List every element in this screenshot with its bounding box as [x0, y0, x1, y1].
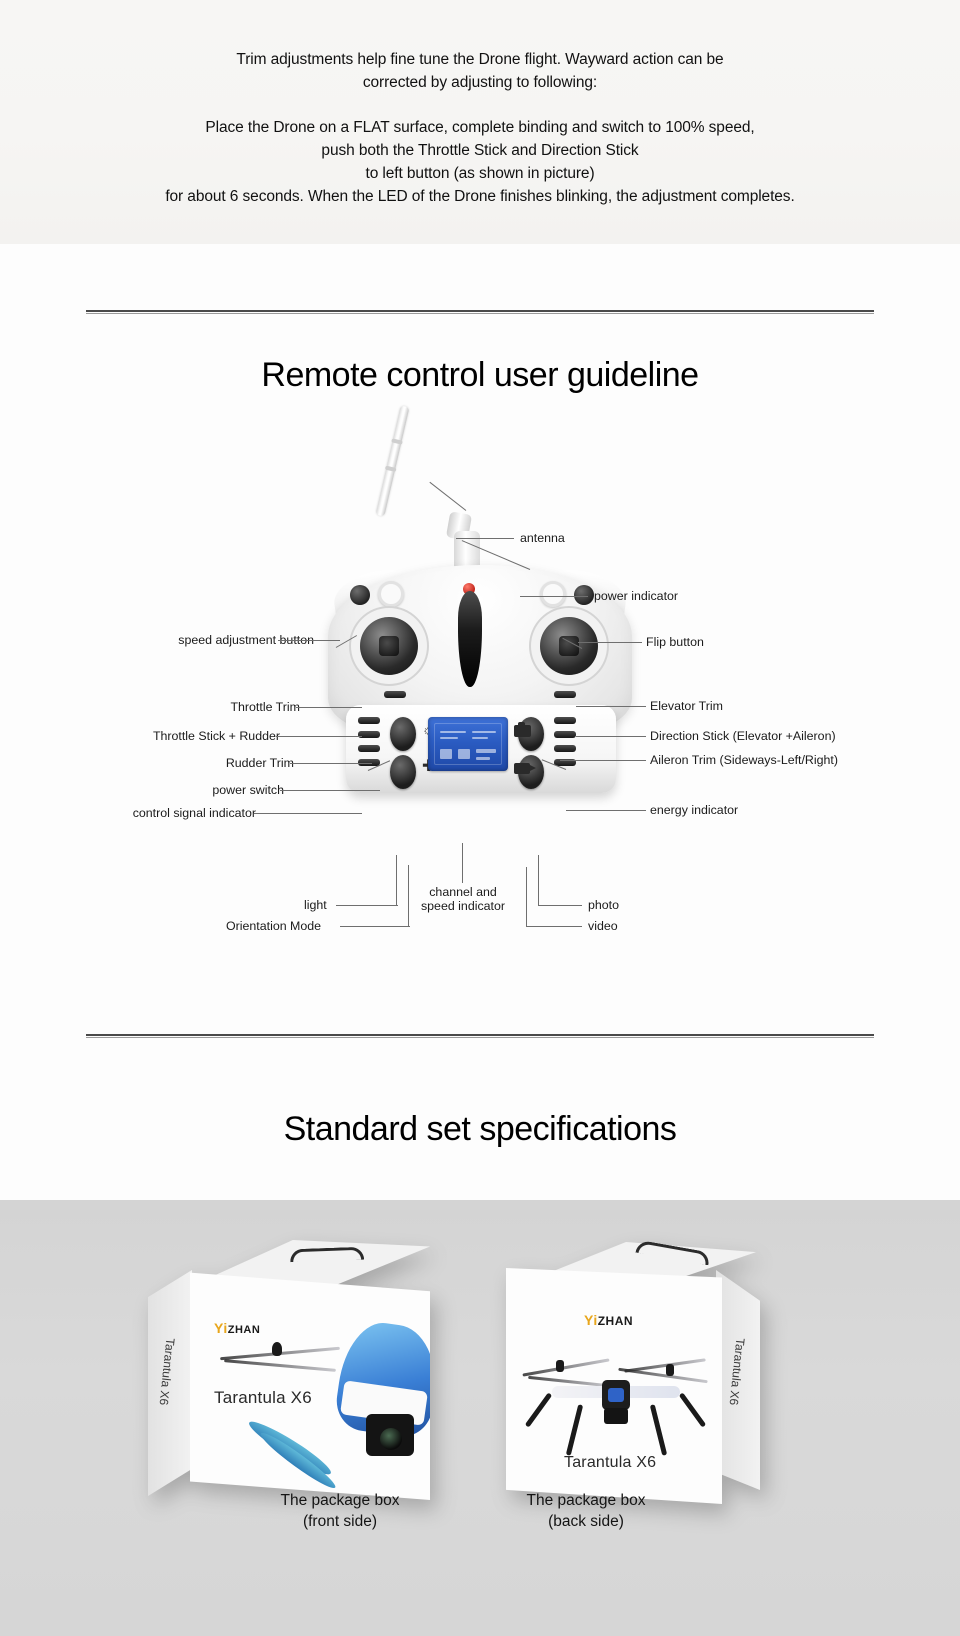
motor-art — [556, 1360, 564, 1372]
intro-line: Place the Drone on a FLAT surface, compl… — [0, 116, 960, 139]
package-front-face: YiZHAN Tarantula X6 — [190, 1268, 430, 1500]
leader-direction-stick — [576, 736, 646, 737]
intro-line: for about 6 seconds. When the LED of the… — [0, 185, 960, 208]
landing-leg-art — [566, 1404, 583, 1456]
label-rudder-trim: Rudder Trim — [226, 756, 294, 770]
label-energy-indicator: energy indicator — [650, 803, 738, 817]
throttle-stick[interactable] — [360, 617, 418, 675]
intro-line: to left button (as shown in picture) — [0, 162, 960, 185]
antenna-icon — [376, 405, 410, 516]
leader-energy-indicator — [566, 810, 646, 811]
label-power-switch: power switch — [212, 783, 284, 797]
brand-yi: Yi — [584, 1312, 598, 1328]
package-back-product-name: Tarantula X6 — [564, 1454, 656, 1472]
package-box-front: Tarantula X6 YiZHAN Tarantula X6 — [148, 1226, 448, 1504]
energy-indicator-bar — [554, 717, 576, 724]
camera-lens-art — [380, 1428, 402, 1450]
label-photo: photo — [588, 898, 619, 912]
leader-flip-button — [578, 642, 642, 643]
leader-light-vertical — [396, 855, 397, 905]
leader-aileron-trim — [560, 760, 646, 761]
label-elevator-trim: Elevator Trim — [650, 699, 723, 713]
label-power-indicator: power indicator — [594, 589, 678, 603]
package-front-product-name: Tarantula X6 — [214, 1388, 312, 1408]
landing-leg-art — [679, 1392, 707, 1427]
remote-control-section: Remote control user guideline — [0, 244, 960, 1034]
intro-line: corrected by adjusting to following: — [0, 71, 960, 94]
flip-button-icon[interactable] — [574, 585, 594, 605]
camera-gimbal-art — [604, 1408, 628, 1424]
label-orientation-mode: Orientation Mode — [226, 919, 321, 933]
label-antenna: antenna — [520, 531, 565, 545]
package-photo-strip: Tarantula X6 YiZHAN Tarantula X6 — [0, 1200, 960, 1636]
caption-line-2: (front side) — [210, 1511, 470, 1532]
caption-line-1: The package box — [210, 1490, 470, 1511]
drone-leg-art — [257, 1428, 339, 1493]
intro-paragraph-2: Place the Drone on a FLAT surface, compl… — [0, 116, 960, 208]
aileron-trim-switch[interactable] — [554, 691, 576, 698]
label-flip-button: Flip button — [646, 635, 704, 649]
brand-zhan: ZHAN — [228, 1324, 261, 1336]
leader-light — [336, 905, 398, 906]
photo-camera-icon — [514, 725, 531, 737]
label-control-signal-indicator: control signal indicator — [133, 806, 256, 820]
leader-rudder-trim — [290, 763, 372, 764]
drone-center-led-art — [608, 1388, 624, 1402]
motor-art — [272, 1342, 282, 1356]
brand-zhan: ZHAN — [598, 1314, 633, 1328]
label-light: light — [304, 898, 327, 912]
package-back-brand: YiZHAN — [584, 1312, 633, 1328]
caption-back-box: The package box (back side) — [456, 1490, 716, 1532]
energy-indicator-bar — [554, 731, 576, 738]
direction-stick[interactable] — [540, 617, 598, 675]
label-channel-line1: channel and — [398, 885, 528, 899]
leader-speed-adjustment — [278, 640, 340, 641]
leader-power-indicator — [520, 596, 588, 597]
leader-channel-vertical — [462, 843, 463, 883]
package-box-back: Tarantula X6 YiZHAN Tarantula X6 — [498, 1218, 766, 1504]
leader-elevator-trim — [576, 706, 646, 707]
propeller-art — [624, 1358, 706, 1372]
label-aileron-trim: Aileron Trim (Sideways-Left/Right) — [650, 753, 838, 767]
label-throttle-stick-rudder: Throttle Stick + Rudder — [153, 729, 280, 743]
intro-instructions: Trim adjustments help fine tune the Dron… — [0, 0, 960, 244]
lcd-screen — [428, 717, 508, 771]
motor-art — [666, 1364, 674, 1376]
leader-power-switch — [280, 790, 380, 791]
package-front-brand: YiZHAN — [214, 1320, 260, 1336]
orientation-mode-button[interactable] — [390, 755, 416, 789]
specs-section-title: Standard set specifications — [0, 1110, 960, 1149]
label-video: video — [588, 919, 618, 933]
package-back-face: YiZHAN Tarantula X6 — [506, 1268, 722, 1504]
leader-throttle-trim — [296, 707, 362, 708]
remote-control-diagram: ☼ ✚ antenna power indicator Flip button — [0, 395, 960, 925]
specs-section: Standard set specifications — [0, 1034, 960, 1200]
label-channel-speed-indicator: channel and speed indicator — [398, 885, 528, 913]
leader-orientation-mode — [340, 926, 410, 927]
propeller-art — [522, 1358, 609, 1376]
brand-yi: Yi — [214, 1320, 228, 1336]
leader-antenna — [456, 538, 514, 539]
video-camera-icon — [514, 763, 530, 774]
label-channel-line2: speed indicator — [398, 899, 528, 913]
label-direction-stick: Direction Stick (Elevator +Aileron) — [650, 729, 836, 743]
control-signal-indicator-bar — [358, 745, 380, 752]
rudder-trim-switch[interactable] — [384, 691, 406, 698]
intro-paragraph-1: Trim adjustments help fine tune the Dron… — [0, 48, 960, 94]
left-shoulder-ring-button[interactable] — [378, 581, 404, 607]
leader-video-vertical — [526, 867, 527, 926]
control-signal-indicator-bar — [358, 717, 380, 724]
remote-control-illustration: ☼ ✚ — [318, 405, 642, 885]
right-shoulder-ring-button[interactable] — [540, 581, 566, 607]
leader-control-signal — [254, 813, 362, 814]
light-button[interactable] — [390, 717, 416, 751]
energy-indicator-bar — [554, 745, 576, 752]
speed-adjustment-button-icon[interactable] — [350, 585, 370, 605]
package-handle-icon — [290, 1247, 364, 1263]
leader-photo-vertical — [538, 855, 539, 905]
label-throttle-trim: Throttle Trim — [230, 700, 300, 714]
caption-line-2: (back side) — [456, 1511, 716, 1532]
leader-throttle-stick — [276, 736, 362, 737]
intro-line: push both the Throttle Stick and Directi… — [0, 139, 960, 162]
leader-photo — [538, 905, 582, 906]
landing-leg-art — [525, 1392, 553, 1427]
intro-line: Trim adjustments help fine tune the Dron… — [0, 48, 960, 71]
landing-leg-art — [650, 1404, 667, 1456]
caption-line-1: The package box — [456, 1490, 716, 1511]
remote-section-title: Remote control user guideline — [0, 356, 960, 395]
leader-video — [526, 926, 582, 927]
caption-front-box: The package box (front side) — [210, 1490, 470, 1532]
propeller-art — [224, 1359, 336, 1372]
